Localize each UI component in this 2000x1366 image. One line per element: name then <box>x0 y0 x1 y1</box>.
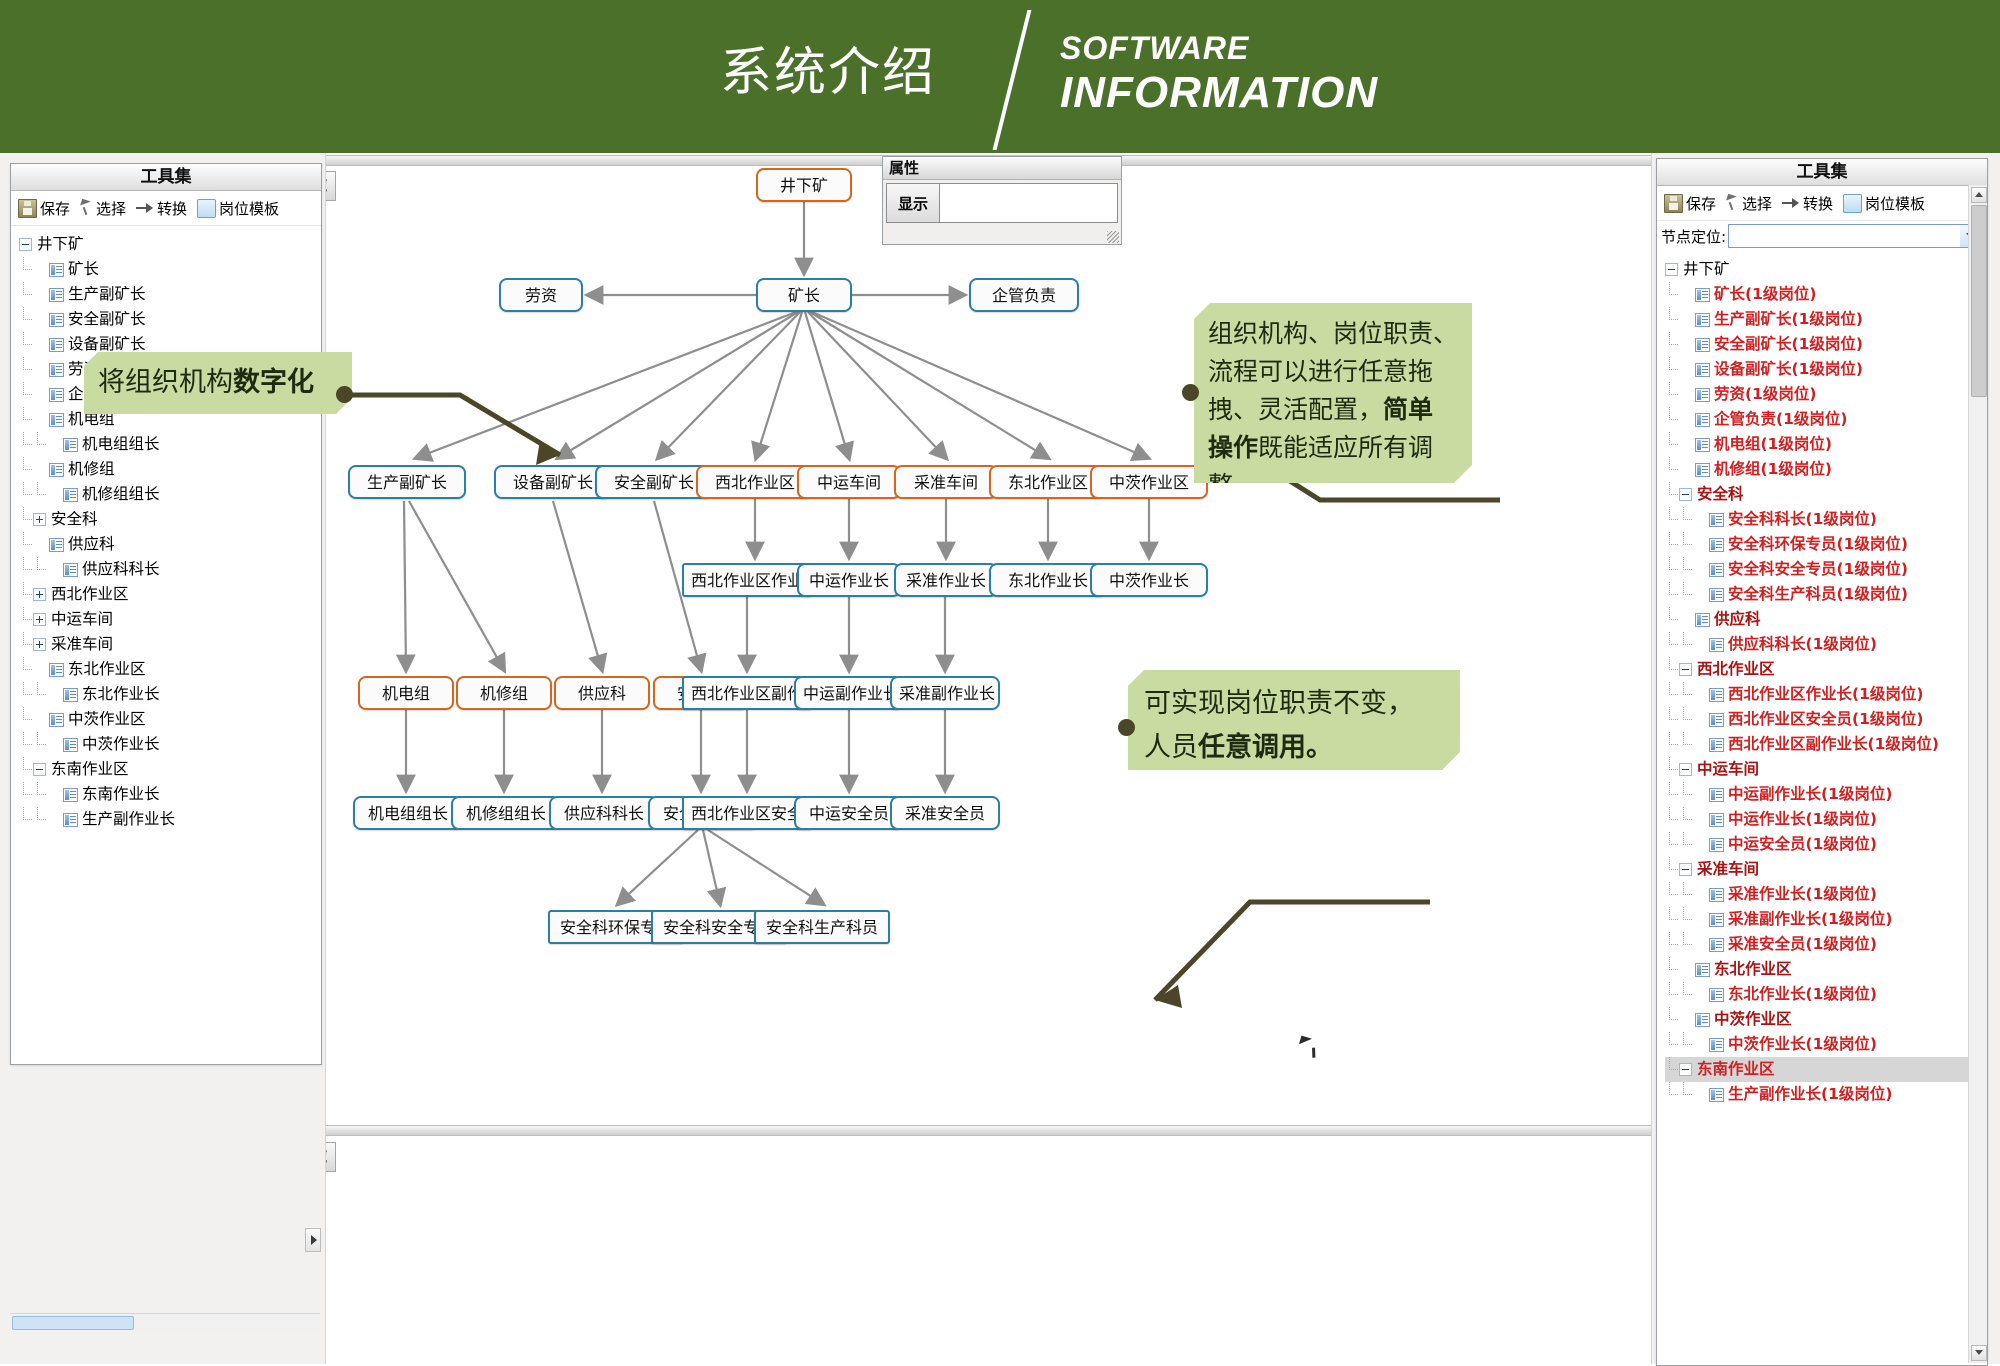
tree-item-label: 安全科科长(1级岗位) <box>1726 507 1879 532</box>
tree-elbow-icon <box>1679 907 1693 932</box>
tree-elbow-icon <box>19 282 33 307</box>
tree-item-icon <box>1695 963 1710 977</box>
tree-item-icon <box>1709 788 1724 802</box>
left-select-label: 选择 <box>96 198 126 219</box>
left-tree-item-node[interactable]: 机修组组长 <box>19 482 321 507</box>
tree-collapse-icon[interactable] <box>1665 263 1678 276</box>
right-tree-item-node[interactable]: 中运安全员(1级岗位) <box>1665 832 1987 857</box>
tree-elbow-icon <box>1665 882 1679 907</box>
tree-elbow-icon <box>19 707 33 732</box>
tree-item-label: 中运车间 <box>49 607 115 632</box>
template-icon <box>197 199 216 218</box>
left-tree-item-node[interactable]: 东南作业区 <box>19 757 321 782</box>
tree-item-label: 中运副作业长(1级岗位) <box>1726 782 1894 807</box>
tree-spacer <box>1693 688 1706 701</box>
tree-item-icon <box>63 438 78 452</box>
tree-elbow-icon <box>1665 482 1679 507</box>
tree-collapse-icon[interactable] <box>1679 663 1692 676</box>
tree-elbow-icon <box>33 432 47 457</box>
left-select-button[interactable]: 选择 <box>77 198 129 219</box>
tree-elbow-icon <box>33 807 47 832</box>
right-tree-item-node[interactable]: 安全副矿长(1级岗位) <box>1665 332 1987 357</box>
callout-flexible-anchor-dot <box>1182 384 1199 401</box>
tree-item-label: 供应科科长(1级岗位) <box>1726 632 1879 657</box>
right-tree-item-node[interactable]: 中运副作业长(1级岗位) <box>1665 782 1987 807</box>
tree-spacer <box>47 563 60 576</box>
banner-slash-divider <box>993 10 1032 150</box>
diagram-node-n_xbfzyz[interactable]: 西北作业区副作业长 <box>682 676 812 710</box>
left-tree-item-node[interactable]: 安全副矿长 <box>19 307 321 332</box>
tree-spacer <box>1693 563 1706 576</box>
right-tree-item-node[interactable]: 安全科安全专员(1级岗位) <box>1665 557 1987 582</box>
diagram-node-n_zycj[interactable]: 中运车间 <box>797 465 901 499</box>
tree-item-label: 劳资(1级岗位) <box>1712 382 1818 407</box>
tree-spacer <box>33 388 46 401</box>
tree-elbow-icon <box>19 257 33 282</box>
tree-spacer <box>1693 838 1706 851</box>
diagram-node-n_czfzyz[interactable]: 采准副作业长 <box>890 676 1000 710</box>
right-panel-title: 工具集 <box>1657 159 1987 186</box>
left-tree-item-node[interactable]: 矿长 <box>19 257 321 282</box>
diagram-node-n_zyaqy[interactable]: 中运安全员 <box>794 796 904 830</box>
tree-item-icon <box>1695 438 1710 452</box>
left-tree-item-node[interactable]: 安全科 <box>19 507 321 532</box>
tree-elbow-icon <box>19 732 33 757</box>
right-tree-item-node[interactable]: 劳资(1级岗位) <box>1665 382 1987 407</box>
right-tree-item-node[interactable]: 采准副作业长(1级岗位) <box>1665 907 1987 932</box>
tree-item-label: 供应科科长 <box>80 557 162 582</box>
tree-item-icon <box>1709 638 1724 652</box>
tree-item-label: 生产副矿长 <box>66 282 148 307</box>
tree-elbow-icon <box>1665 657 1679 682</box>
right-post-template-button[interactable]: 岗位模板 <box>1840 193 1928 214</box>
left-tree-item-node[interactable]: 机修组 <box>19 457 321 482</box>
left-tree-item-node[interactable]: 采准车间 <box>19 632 321 657</box>
diagram-node-n_jdzzz[interactable]: 机电组组长 <box>353 796 463 830</box>
right-tree-item-node[interactable]: 井下矿 <box>1665 257 1987 282</box>
tree-spacer <box>1693 1038 1706 1051</box>
left-tree-item-node[interactable]: 供应科 <box>19 532 321 557</box>
diagram-node-n_jxzzz[interactable]: 机修组组长 <box>451 796 561 830</box>
left-tree-item-node[interactable]: 供应科科长 <box>19 557 321 582</box>
diagram-node-n_zyfzyz[interactable]: 中运副作业长 <box>794 676 904 710</box>
tree-elbow-icon <box>19 807 33 832</box>
tree-item-icon <box>49 363 64 377</box>
tree-item-icon <box>49 263 64 277</box>
right-tree-item-node[interactable]: 生产副矿长(1级岗位) <box>1665 307 1987 332</box>
tree-elbow-icon <box>1679 782 1693 807</box>
tree-spacer <box>1679 1013 1692 1026</box>
tree-item-label: 西北作业区 <box>49 582 131 607</box>
tree-item-label: 井下矿 <box>1681 257 1732 282</box>
diagram-node-n_czaqy[interactable]: 采准安全员 <box>890 796 1000 830</box>
tree-elbow-icon <box>1665 307 1679 332</box>
diagram-node-n_scfkz[interactable]: 生产副矿长 <box>348 465 466 499</box>
right-tree-item-node[interactable]: 采准作业长(1级岗位) <box>1665 882 1987 907</box>
tree-spacer <box>33 663 46 676</box>
tree-collapse-icon[interactable] <box>19 238 32 251</box>
left-tree-item-node[interactable]: 东南作业长 <box>19 782 321 807</box>
tree-item-label: 安全科 <box>1695 482 1746 507</box>
left-tree-item-node[interactable]: 中茨作业长 <box>19 732 321 757</box>
tree-item-icon <box>1709 838 1724 852</box>
tree-item-label: 中运车间 <box>1695 757 1761 782</box>
left-post-template-button[interactable]: 岗位模板 <box>194 198 282 219</box>
tree-item-label: 中运安全员(1级岗位) <box>1726 832 1879 857</box>
tree-elbow-icon <box>1679 982 1693 1007</box>
tree-spacer <box>47 738 60 751</box>
diagram-node-n_kz[interactable]: 矿长 <box>756 278 852 312</box>
tree-elbow-icon <box>33 557 47 582</box>
arrow-icon <box>1782 195 1800 212</box>
node-locate-select[interactable] <box>1728 224 1983 248</box>
tree-elbow-icon <box>1679 807 1693 832</box>
tree-item-label: 采准车间 <box>49 632 115 657</box>
tree-item-icon <box>1709 938 1724 952</box>
tree-elbow-icon <box>1665 282 1679 307</box>
tree-elbow-icon <box>19 782 33 807</box>
tree-item-label: 中运作业长(1级岗位) <box>1726 807 1879 832</box>
right-panel-toolbar: 保存 选择 转换 岗位模板 <box>1657 186 1987 221</box>
right-tree-item-node[interactable]: 采准安全员(1级岗位) <box>1665 932 1987 957</box>
tree-elbow-icon <box>1679 732 1693 757</box>
tree-elbow-icon <box>1665 357 1679 382</box>
right-tree-item-node[interactable]: 西北作业区副作业长(1级岗位) <box>1665 732 1987 757</box>
tree-item-icon <box>1709 713 1724 727</box>
diagram-node-n_czcj[interactable]: 采准车间 <box>894 465 998 499</box>
tree-item-label: 机修组 <box>66 457 117 482</box>
tree-collapse-icon[interactable] <box>1679 1063 1692 1076</box>
tree-item-label: 矿长 <box>66 257 101 282</box>
right-tree-item-node[interactable]: 安全科生产科员(1级岗位) <box>1665 582 1987 607</box>
tree-elbow-icon <box>1665 407 1679 432</box>
tree-spacer <box>1679 388 1692 401</box>
tree-elbow-icon <box>1665 332 1679 357</box>
tree-elbow-icon <box>1665 607 1679 632</box>
scroll-up-arrow-icon[interactable] <box>1971 187 1987 203</box>
tree-collapse-icon[interactable] <box>1679 488 1692 501</box>
tree-elbow-icon <box>1665 932 1679 957</box>
right-tree-item-node[interactable]: 中茨作业区 <box>1665 1007 1987 1032</box>
right-post-tree[interactable]: 井下矿矿长(1级岗位)生产副矿长(1级岗位)安全副矿长(1级岗位)设备副矿长(1… <box>1657 251 1987 1347</box>
banner-chinese-title: 系统介绍 <box>720 30 936 105</box>
tree-item-label: 西北作业区作业长(1级岗位) <box>1726 682 1925 707</box>
left-tree-item-node[interactable]: 中茨作业区 <box>19 707 321 732</box>
left-tree-item-node[interactable]: 生产副作业长 <box>19 807 321 832</box>
right-tree-item-node[interactable]: 企管负责(1级岗位) <box>1665 407 1987 432</box>
tree-item-icon <box>49 288 64 302</box>
tree-item-label: 东南作业区 <box>49 757 131 782</box>
callout-digitize-anchor-dot <box>336 386 353 403</box>
tree-item-icon <box>1695 413 1710 427</box>
tree-item-label: 安全科安全专员(1级岗位) <box>1726 557 1910 582</box>
diagram-node-n_xbzyz[interactable]: 西北作业区作业长 <box>682 563 812 597</box>
left-toolset-panel: 工具集 保存 选择 转换 岗位模板 井下矿矿长生产副矿长安全副矿长设备副矿长劳资… <box>10 163 322 1065</box>
tree-spacer <box>1693 738 1706 751</box>
left-tree-item-node[interactable]: 中运车间 <box>19 607 321 632</box>
tree-elbow-icon <box>19 682 33 707</box>
tree-item-icon <box>1695 388 1710 402</box>
tree-elbow-icon <box>1665 507 1679 532</box>
tree-spacer <box>47 488 60 501</box>
tree-elbow-icon <box>1679 557 1693 582</box>
tree-item-label: 东南作业长 <box>80 782 162 807</box>
panel-collapse-handle[interactable] <box>305 1228 321 1252</box>
tree-item-icon <box>49 463 64 477</box>
right-tree-item-node[interactable]: 供应科 <box>1665 607 1987 632</box>
left-save-button[interactable]: 保存 <box>15 198 73 219</box>
left-panel-toolbar: 保存 选择 转换 岗位模板 <box>11 191 321 226</box>
diagram-node-n_jxk[interactable]: 井下矿 <box>756 168 852 202</box>
right-tree-item-node[interactable]: 东南作业区 <box>1665 1057 1987 1082</box>
right-convert-button[interactable]: 转换 <box>1779 193 1836 214</box>
cursor-icon <box>1726 195 1739 212</box>
tree-elbow-icon <box>19 557 33 582</box>
tree-item-icon <box>1709 563 1724 577</box>
tree-elbow-icon <box>19 532 33 557</box>
region-tab-bottom[interactable]: 区域 <box>325 1142 336 1172</box>
tree-spacer <box>1693 788 1706 801</box>
node-locate-label: 节点定位: <box>1661 226 1726 247</box>
tree-elbow-icon <box>1665 832 1679 857</box>
scroll-thumb[interactable] <box>1971 205 1987 397</box>
tree-spacer <box>1679 413 1692 426</box>
tree-elbow-icon <box>19 382 33 407</box>
tree-expand-icon[interactable] <box>33 613 46 626</box>
tree-spacer <box>1679 288 1692 301</box>
tree-elbow-icon <box>1665 582 1679 607</box>
diagram-node-n_jdz[interactable]: 机电组 <box>358 676 454 710</box>
tree-item-label: 生产副矿长(1级岗位) <box>1712 307 1865 332</box>
tree-item-label: 生产副作业长(1级岗位) <box>1726 1082 1894 1107</box>
tree-elbow-icon <box>1679 932 1693 957</box>
diagram-node-n_czzyz[interactable]: 采准作业长 <box>894 563 998 597</box>
tree-spacer <box>1679 338 1692 351</box>
tree-expand-icon[interactable] <box>33 513 46 526</box>
tree-item-label: 安全副矿长(1级岗位) <box>1712 332 1865 357</box>
diagram-node-n_zczyq[interactable]: 中茨作业区 <box>1090 465 1208 499</box>
tree-elbow-icon <box>1665 907 1679 932</box>
chevron-right-icon <box>311 1235 317 1245</box>
tree-item-label: 矿长(1级岗位) <box>1712 282 1818 307</box>
tree-elbow-icon <box>19 607 33 632</box>
tree-item-icon <box>1695 338 1710 352</box>
tree-collapse-icon[interactable] <box>1679 763 1692 776</box>
tree-item-icon <box>63 813 78 827</box>
tree-item-icon <box>49 663 64 677</box>
left-hscroll-thumb[interactable] <box>12 1316 134 1330</box>
cursor-icon <box>80 200 93 217</box>
diagram-node-n_zczyz[interactable]: 中茨作业长 <box>1090 563 1208 597</box>
tree-item-icon <box>1709 538 1724 552</box>
tree-spacer <box>1693 913 1706 926</box>
tree-elbow-icon <box>1665 532 1679 557</box>
right-tree-item-node[interactable]: 东北作业长(1级岗位) <box>1665 982 1987 1007</box>
right-tree-item-node[interactable]: 设备副矿长(1级岗位) <box>1665 357 1987 382</box>
tree-elbow-icon <box>19 757 33 782</box>
left-tree-item-node[interactable]: 生产副矿长 <box>19 282 321 307</box>
tree-elbow-icon <box>19 582 33 607</box>
diagram-node-n_qgfz[interactable]: 企管负责 <box>969 278 1079 312</box>
property-field-value[interactable] <box>940 184 1117 222</box>
tree-elbow-icon <box>33 482 47 507</box>
right-tree-item-node[interactable]: 西北作业区 <box>1665 657 1987 682</box>
tree-spacer <box>33 538 46 551</box>
tree-item-label: 西北作业区 <box>1695 657 1777 682</box>
tree-elbow-icon <box>1679 582 1693 607</box>
tree-elbow-icon <box>19 407 33 432</box>
right-save-button[interactable]: 保存 <box>1661 193 1719 214</box>
tree-elbow-icon <box>19 457 33 482</box>
property-window[interactable]: 属性 显示 <box>882 156 1122 245</box>
callout-digitize: 将组织机构数字化 <box>84 352 352 414</box>
tree-item-icon <box>63 688 78 702</box>
tree-elbow-icon <box>1679 707 1693 732</box>
tree-elbow-icon <box>19 507 33 532</box>
tree-item-icon <box>1709 588 1724 602</box>
right-tree-item-node[interactable]: 供应科科长(1级岗位) <box>1665 632 1987 657</box>
tree-expand-icon[interactable] <box>33 588 46 601</box>
banner-english-line2: INFORMATION <box>1060 68 1378 118</box>
tree-item-label: 机修组(1级岗位) <box>1712 457 1834 482</box>
tree-spacer <box>33 288 46 301</box>
tree-elbow-icon <box>1665 382 1679 407</box>
callout-reassign: 可实现岗位职责不变， 人员任意调用。 <box>1128 670 1460 770</box>
right-post-template-label: 岗位模板 <box>1865 193 1925 214</box>
callout-reassign-text: 可实现岗位职责不变， 人员任意调用。 <box>1144 688 1414 763</box>
left-org-tree[interactable]: 井下矿矿长生产副矿长安全副矿长设备副矿长劳资企管负责机电组机电组组长机修组机修组… <box>11 226 321 1062</box>
tree-spacer <box>47 813 60 826</box>
right-tree-item-node[interactable]: 安全科环保专员(1级岗位) <box>1665 532 1987 557</box>
tree-item-icon <box>49 413 64 427</box>
tree-item-label: 机修组组长 <box>80 482 162 507</box>
tree-spacer <box>33 713 46 726</box>
tree-elbow-icon <box>19 632 33 657</box>
tree-item-icon <box>1695 288 1710 302</box>
tree-spacer <box>1693 538 1706 551</box>
tree-elbow-icon <box>1679 532 1693 557</box>
left-tree-item-node[interactable]: 井下矿 <box>19 232 321 257</box>
tree-item-label: 安全科生产科员(1级岗位) <box>1726 582 1910 607</box>
tree-elbow-icon <box>33 732 47 757</box>
tree-item-label: 西北作业区安全员(1级岗位) <box>1726 707 1925 732</box>
diagram-node-n_xbaqy[interactable]: 西北作业区安全员 <box>682 796 812 830</box>
left-bottom-hscrollbar[interactable] <box>10 1313 320 1330</box>
banner-english-line1: SOFTWARE <box>1060 30 1249 67</box>
diagram-node-n_gyk[interactable]: 供应科 <box>554 676 650 710</box>
tree-item-label: 东北作业长 <box>80 682 162 707</box>
right-tree-item-node[interactable]: 机电组(1级岗位) <box>1665 432 1987 457</box>
diagram-node-n_zyzyz[interactable]: 中运作业长 <box>797 563 901 597</box>
right-select-button[interactable]: 选择 <box>1723 193 1775 214</box>
diagram-node-n_scky[interactable]: 安全科生产科员 <box>754 910 890 944</box>
left-panel-title: 工具集 <box>11 164 321 191</box>
tree-elbow-icon <box>1665 1007 1679 1032</box>
tree-spacer <box>33 413 46 426</box>
tree-spacer <box>1693 938 1706 951</box>
right-tree-item-node[interactable]: 中茨作业长(1级岗位) <box>1665 1032 1987 1057</box>
tree-expand-icon[interactable] <box>33 638 46 651</box>
property-window-title: 属性 <box>883 157 1121 180</box>
tree-item-icon <box>1709 688 1724 702</box>
tree-item-icon <box>1709 738 1724 752</box>
tree-item-icon <box>49 713 64 727</box>
tree-item-icon <box>63 738 78 752</box>
right-tree-item-node[interactable]: 西北作业区安全员(1级岗位) <box>1665 707 1987 732</box>
right-tree-item-node[interactable]: 安全科科长(1级岗位) <box>1665 507 1987 532</box>
tree-elbow-icon <box>1665 432 1679 457</box>
tree-item-icon <box>1695 463 1710 477</box>
tree-item-icon <box>1695 613 1710 627</box>
resize-grip-icon[interactable] <box>1107 231 1119 243</box>
tree-elbow-icon <box>1679 1032 1693 1057</box>
tree-collapse-icon[interactable] <box>1679 863 1692 876</box>
tree-elbow-icon <box>1665 1032 1679 1057</box>
tree-elbow-icon <box>19 307 33 332</box>
tree-item-icon <box>49 313 64 327</box>
region-tab-top[interactable]: 区域 <box>325 171 336 201</box>
tree-item-label: 东北作业区 <box>1712 957 1794 982</box>
right-tree-item-node[interactable]: 西北作业区作业长(1级岗位) <box>1665 682 1987 707</box>
right-tree-item-node[interactable]: 矿长(1级岗位) <box>1665 282 1987 307</box>
tree-item-icon <box>1709 1038 1724 1052</box>
right-tree-item-node[interactable]: 采准车间 <box>1665 857 1987 882</box>
tree-spacer <box>1693 713 1706 726</box>
tree-elbow-icon <box>1679 632 1693 657</box>
diagram-node-n_jxz[interactable]: 机修组 <box>456 676 552 710</box>
tree-collapse-icon[interactable] <box>33 763 46 776</box>
tree-elbow-icon <box>33 682 47 707</box>
right-tree-item-node[interactable]: 机修组(1级岗位) <box>1665 457 1987 482</box>
right-tree-item-node[interactable]: 东北作业区 <box>1665 957 1987 982</box>
callout-emphasis: 数字化 <box>233 367 314 398</box>
diagram-node-n_gykkz[interactable]: 供应科科长 <box>549 796 659 830</box>
right-tree-item-node[interactable]: 生产副作业长(1级岗位) <box>1665 1082 1987 1107</box>
tree-item-icon <box>1695 313 1710 327</box>
tree-elbow-icon <box>1679 1082 1693 1107</box>
tree-item-label: 西北作业区副作业长(1级岗位) <box>1726 732 1941 757</box>
left-tree-item-node[interactable]: 机电组组长 <box>19 432 321 457</box>
tree-item-icon <box>49 388 64 402</box>
callout-emphasis: 任意调用。 <box>1198 732 1333 763</box>
left-tree-item-node[interactable]: 东北作业区 <box>19 657 321 682</box>
tree-elbow-icon <box>1665 782 1679 807</box>
right-tree-item-node[interactable]: 中运作业长(1级岗位) <box>1665 807 1987 832</box>
left-post-template-label: 岗位模板 <box>219 198 279 219</box>
left-tree-item-node[interactable]: 东北作业长 <box>19 682 321 707</box>
tree-elbow-icon <box>19 357 33 382</box>
tree-elbow-icon <box>1679 507 1693 532</box>
left-convert-button[interactable]: 转换 <box>133 198 190 219</box>
tree-item-icon <box>1709 913 1724 927</box>
save-icon <box>1664 194 1683 213</box>
tree-elbow-icon <box>1665 732 1679 757</box>
diagram-node-n_lz[interactable]: 劳资 <box>499 278 583 312</box>
right-tree-item-node[interactable]: 安全科 <box>1665 482 1987 507</box>
tree-elbow-icon <box>1665 682 1679 707</box>
right-save-label: 保存 <box>1686 193 1716 214</box>
tree-spacer <box>1679 963 1692 976</box>
scroll-down-arrow-icon[interactable] <box>1971 1345 1987 1361</box>
tree-item-label: 设备副矿长(1级岗位) <box>1712 357 1865 382</box>
left-tree-item-node[interactable]: 西北作业区 <box>19 582 321 607</box>
tree-item-icon <box>63 488 78 502</box>
right-tree-item-node[interactable]: 中运车间 <box>1665 757 1987 782</box>
tree-elbow-icon <box>19 432 33 457</box>
tree-spacer <box>1693 813 1706 826</box>
tree-spacer <box>1679 463 1692 476</box>
right-panel-scrollbar[interactable] <box>1968 185 1987 1363</box>
